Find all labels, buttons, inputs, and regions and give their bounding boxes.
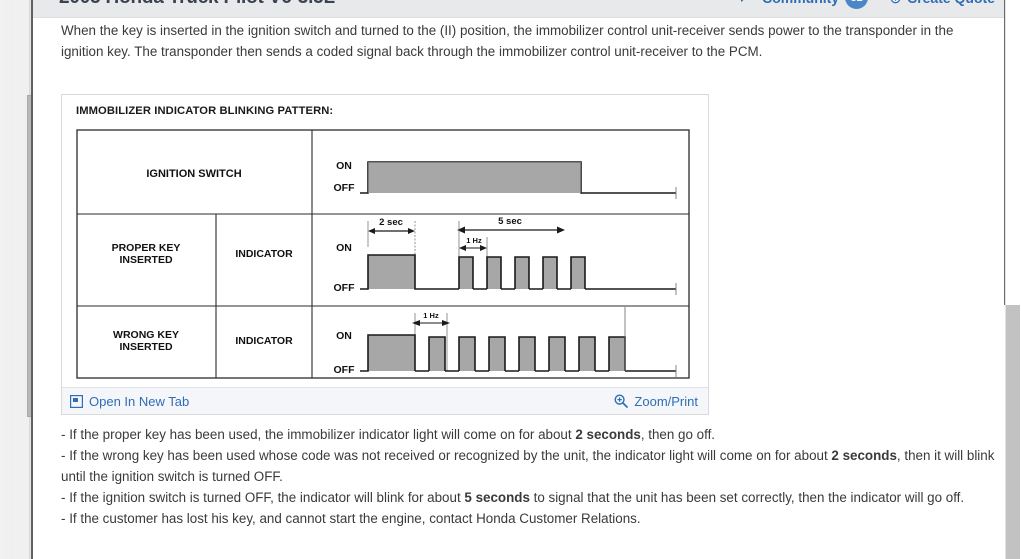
intro-paragraph: When the key is inserted in the ignition… <box>61 20 989 62</box>
left-scrollbar-track[interactable] <box>13 0 30 559</box>
row3-indicator-label: INDICATOR <box>235 335 293 347</box>
right-scrollbar-track[interactable] <box>1005 0 1021 559</box>
note-item: - If the ignition switch is turned OFF, … <box>61 487 1013 508</box>
row1-off-label: OFF <box>334 182 356 194</box>
row3-off-label: OFF <box>334 364 356 376</box>
row2-indicator-label: INDICATOR <box>235 248 293 260</box>
annotation-1hz-row2: 1 Hz <box>466 236 482 245</box>
note-dash: - <box>61 511 69 526</box>
row-label-wrong-key-line2: INSERTED <box>119 341 173 353</box>
community-label: Community <box>762 0 839 6</box>
note-item: - If the proper key has been used, the i… <box>61 424 1013 445</box>
open-in-new-tab-button[interactable]: Open In New Tab <box>70 394 189 409</box>
chat-bubble-icon <box>739 0 756 6</box>
page-title: 2005 Honda Truck Pilot V6-3.5L <box>59 0 335 9</box>
note-emphasis: 5 seconds <box>464 490 530 505</box>
note-item: - If the customer has lost his key, and … <box>61 508 1013 529</box>
ignition-on-fill <box>368 162 581 193</box>
app-root: 2005 Honda Truck Pilot V6-3.5L Community… <box>0 0 1021 559</box>
row-label-wrong-key-line1: WRONG KEY <box>113 329 179 341</box>
community-badge: 32 <box>845 0 868 9</box>
figure-card: IMMOBILIZER INDICATOR BLINKING PATTERN: … <box>61 94 709 415</box>
note-text: If the wrong key has been used whose cod… <box>69 448 831 463</box>
row-label-proper-key-line1: PROPER KEY <box>112 242 181 254</box>
content-column: 2005 Honda Truck Pilot V6-3.5L Community… <box>33 0 1005 559</box>
row1-on-label: ON <box>336 160 352 172</box>
figure-heading: IMMOBILIZER INDICATOR BLINKING PATTERN: <box>76 105 696 117</box>
header-actions: Community 32 Create Quote <box>739 0 995 9</box>
note-text: to signal that the unit has been set cor… <box>530 490 964 505</box>
right-scrollbar-thumb[interactable] <box>1006 305 1020 559</box>
note-item: - If the wrong key has been used whose c… <box>61 445 1013 487</box>
note-dash: - <box>61 427 69 442</box>
note-emphasis: 2 seconds <box>831 448 897 463</box>
annotation-1hz-row3: 1 Hz <box>423 311 439 320</box>
note-text: If the proper key has been used, the imm… <box>69 427 575 442</box>
annotation-2-sec: 2 sec <box>379 217 403 228</box>
create-quote-button[interactable]: Create Quote <box>882 0 995 7</box>
row3-on-label: ON <box>336 330 352 342</box>
zoom-print-label: Zoom/Print <box>634 394 698 409</box>
page-header: 2005 Honda Truck Pilot V6-3.5L Community… <box>33 0 1005 18</box>
blinking-pattern-diagram: IGNITION SWITCH ON OFF PROPER KEY INSERT… <box>76 129 696 381</box>
row-label-proper-key-line2: INSERTED <box>119 254 173 266</box>
note-text: If the ignition switch is turned OFF, th… <box>69 490 464 505</box>
figure-footer: Open In New Tab Zoom/Print <box>62 387 708 414</box>
note-text: If the customer has lost his key, and ca… <box>69 511 640 526</box>
open-in-new-tab-label: Open In New Tab <box>89 394 189 409</box>
create-quote-label: Create Quote <box>907 0 995 6</box>
community-button[interactable]: Community 32 <box>739 0 868 9</box>
row2-on-label: ON <box>336 242 352 254</box>
new-tab-icon <box>70 395 83 408</box>
row2-off-label: OFF <box>334 282 356 294</box>
waveform-svg: IGNITION SWITCH ON OFF PROPER KEY INSERT… <box>76 129 696 381</box>
notes-list: - If the proper key has been used, the i… <box>61 424 1013 529</box>
annotation-5-sec: 5 sec <box>498 216 522 227</box>
note-text: , then go off. <box>641 427 715 442</box>
note-dash: - <box>61 490 69 505</box>
row-label-ignition-switch: IGNITION SWITCH <box>146 168 241 180</box>
magnifier-plus-icon <box>614 394 628 408</box>
zoom-print-button[interactable]: Zoom/Print <box>614 394 698 409</box>
quote-add-icon <box>882 0 901 7</box>
note-dash: - <box>61 448 69 463</box>
figure-body: IMMOBILIZER INDICATOR BLINKING PATTERN: … <box>62 95 708 387</box>
note-emphasis: 2 seconds <box>575 427 641 442</box>
